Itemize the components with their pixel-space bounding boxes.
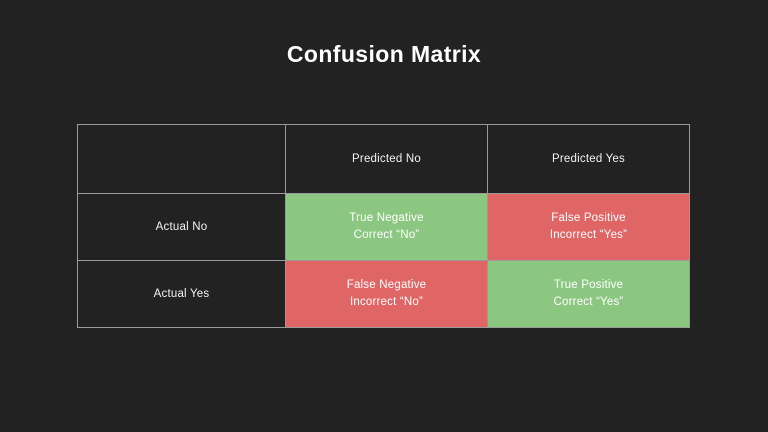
slide-canvas: Confusion Matrix Predicted No Predicted … xyxy=(0,0,768,432)
table-row-actual-yes: Actual Yes False Negative Incorrect “No”… xyxy=(78,261,690,328)
cell-false-positive-fill: False Positive Incorrect “Yes” xyxy=(488,194,689,260)
cell-false-negative-subtitle: Incorrect “No” xyxy=(350,294,423,311)
cell-false-negative[interactable]: False Negative Incorrect “No” xyxy=(286,261,488,328)
matrix-corner-cell xyxy=(78,125,286,194)
column-header-predicted-no: Predicted No xyxy=(286,125,488,194)
cell-true-negative-subtitle: Correct “No” xyxy=(354,227,420,244)
page-title: Confusion Matrix xyxy=(0,41,768,69)
cell-true-positive-fill: True Positive Correct “Yes” xyxy=(488,261,689,327)
cell-false-negative-title: False Negative xyxy=(347,277,427,294)
row-label-actual-no: Actual No xyxy=(78,194,286,261)
cell-false-positive[interactable]: False Positive Incorrect “Yes” xyxy=(488,194,690,261)
cell-true-positive-title: True Positive xyxy=(554,277,623,294)
row-label-actual-yes: Actual Yes xyxy=(78,261,286,328)
column-header-predicted-yes: Predicted Yes xyxy=(488,125,690,194)
cell-false-positive-subtitle: Incorrect “Yes” xyxy=(550,227,627,244)
cell-true-negative-title: True Negative xyxy=(349,210,423,227)
table-row-actual-no: Actual No True Negative Correct “No” Fal… xyxy=(78,194,690,261)
confusion-matrix-table: Predicted No Predicted Yes Actual No Tru… xyxy=(77,124,690,328)
cell-true-negative[interactable]: True Negative Correct “No” xyxy=(286,194,488,261)
table-header-row: Predicted No Predicted Yes xyxy=(78,125,690,194)
cell-false-positive-title: False Positive xyxy=(551,210,625,227)
cell-false-negative-fill: False Negative Incorrect “No” xyxy=(286,261,487,327)
cell-true-positive[interactable]: True Positive Correct “Yes” xyxy=(488,261,690,328)
cell-true-positive-subtitle: Correct “Yes” xyxy=(554,294,624,311)
cell-true-negative-fill: True Negative Correct “No” xyxy=(286,194,487,260)
